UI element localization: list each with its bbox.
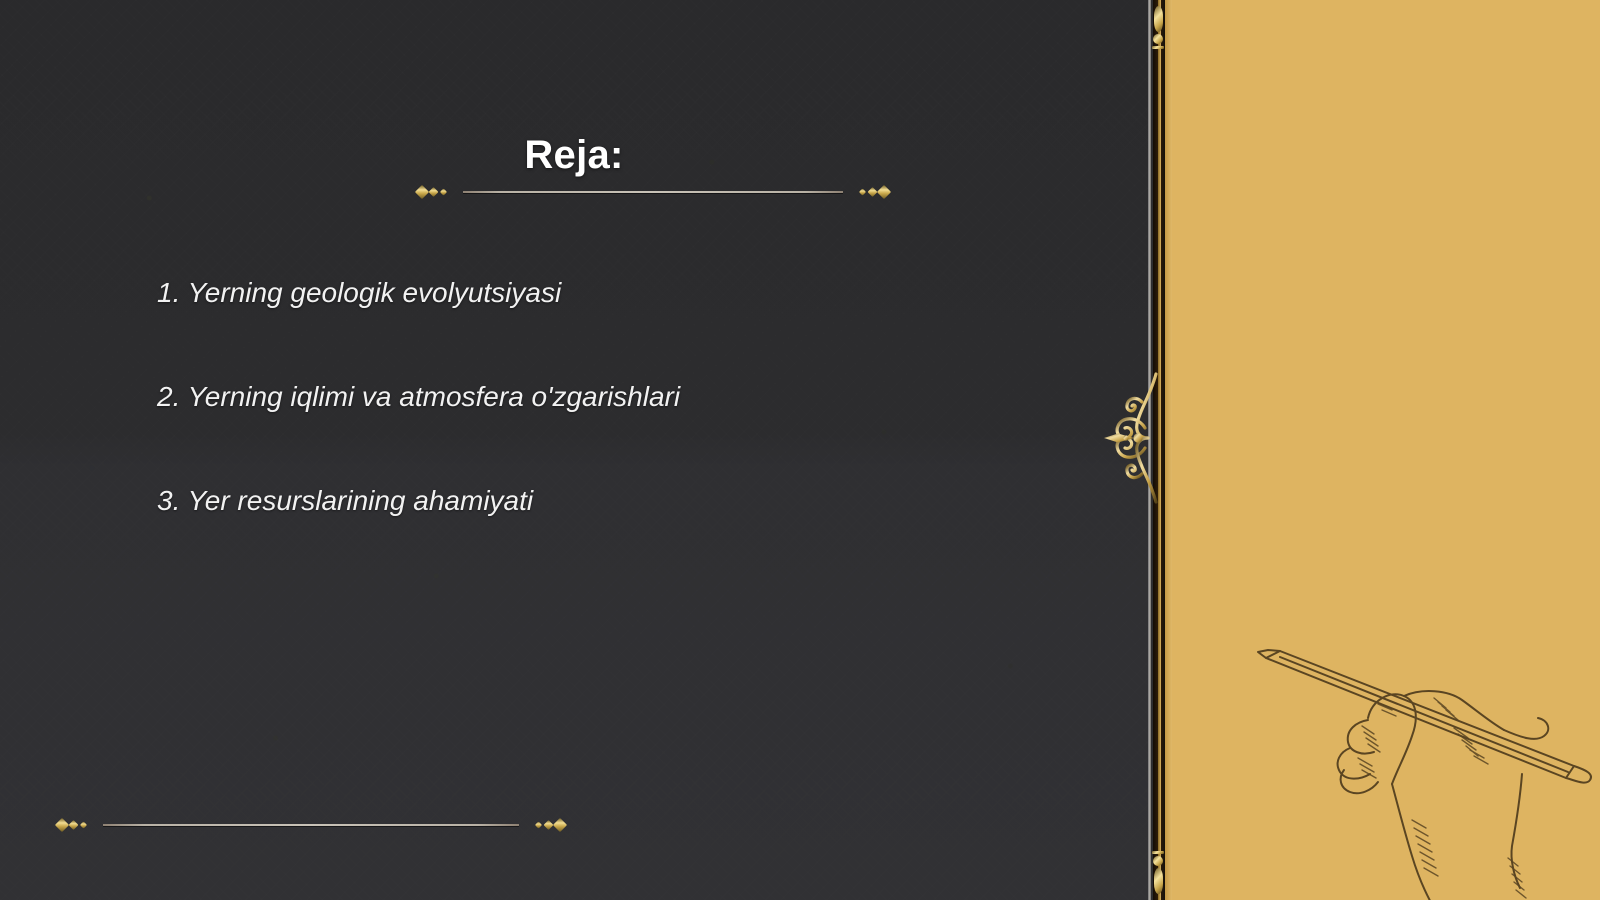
agenda-list: 1. Yerning geologik evolyutsiyasi 2. Yer… [157,275,1097,518]
divider-ornament-right [843,186,891,199]
hand-holding-pen-icon [1222,608,1600,900]
divider-gold-band [1165,0,1172,900]
list-item: 2. Yerning iqlimi va atmosfera o'zgarish… [157,379,1097,414]
divider-bottom-ornament [1152,849,1164,896]
title-divider-rule [415,185,891,199]
gold-page-panel [1172,0,1600,900]
bottom-divider-rule [55,818,567,832]
page-title: Reja: [0,133,1148,178]
divider-top-ornament [1152,4,1164,51]
list-item: 3. Yer resurslarining ahamiyati [157,483,1097,518]
divider-ornament-left [415,186,463,199]
presentation-slide: Reja: 1. Yerning geologik evolyutsiyasi … [0,0,1600,900]
divider-line [103,824,519,826]
gold-filigree-flourish-icon [1098,368,1164,508]
divider-line [463,191,843,193]
divider-ornament-right [519,819,567,832]
list-item: 1. Yerning geologik evolyutsiyasi [157,275,1097,310]
divider-ornament-left [55,819,103,832]
